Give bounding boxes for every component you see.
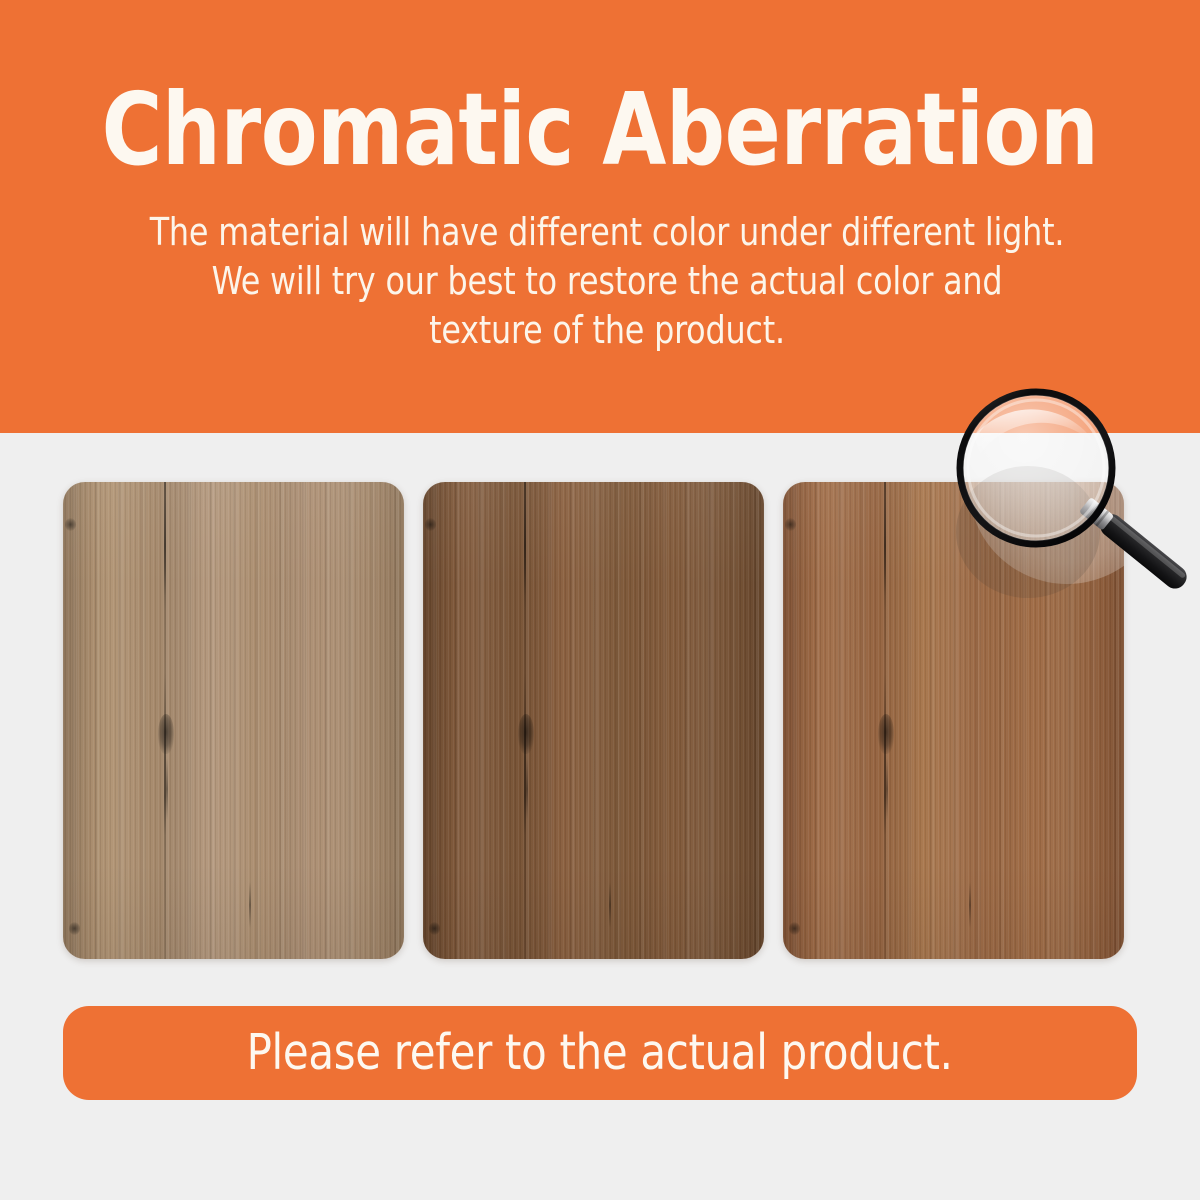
wood-texture-red-oak (783, 482, 1124, 959)
subtitle-line-1: The material will have different color u… (142, 208, 1072, 257)
wood-swatch-light-oak[interactable] (63, 482, 404, 959)
wood-texture-dark-walnut (423, 482, 764, 959)
wood-texture-light-oak (63, 482, 404, 959)
wood-edge-shading (423, 482, 764, 959)
chromatic-aberration-infographic: Chromatic Aberration The material will h… (0, 0, 1200, 1200)
page-title: Chromatic Aberration (48, 78, 1152, 182)
wood-swatch-red-oak[interactable] (783, 482, 1124, 959)
header-subtitle: The material will have different color u… (142, 208, 1072, 355)
subtitle-line-3: texture of the product. (142, 306, 1072, 355)
banner-label: Please refer to the actual product. (247, 1027, 953, 1079)
subtitle-line-2: We will try our best to restore the actu… (142, 257, 1072, 306)
wood-swatch-row (63, 482, 1137, 959)
wood-edge-shading (63, 482, 404, 959)
header-band: Chromatic Aberration The material will h… (0, 0, 1200, 433)
wood-swatch-dark-walnut[interactable] (423, 482, 764, 959)
refer-to-actual-product-banner[interactable]: Please refer to the actual product. (63, 1006, 1137, 1100)
